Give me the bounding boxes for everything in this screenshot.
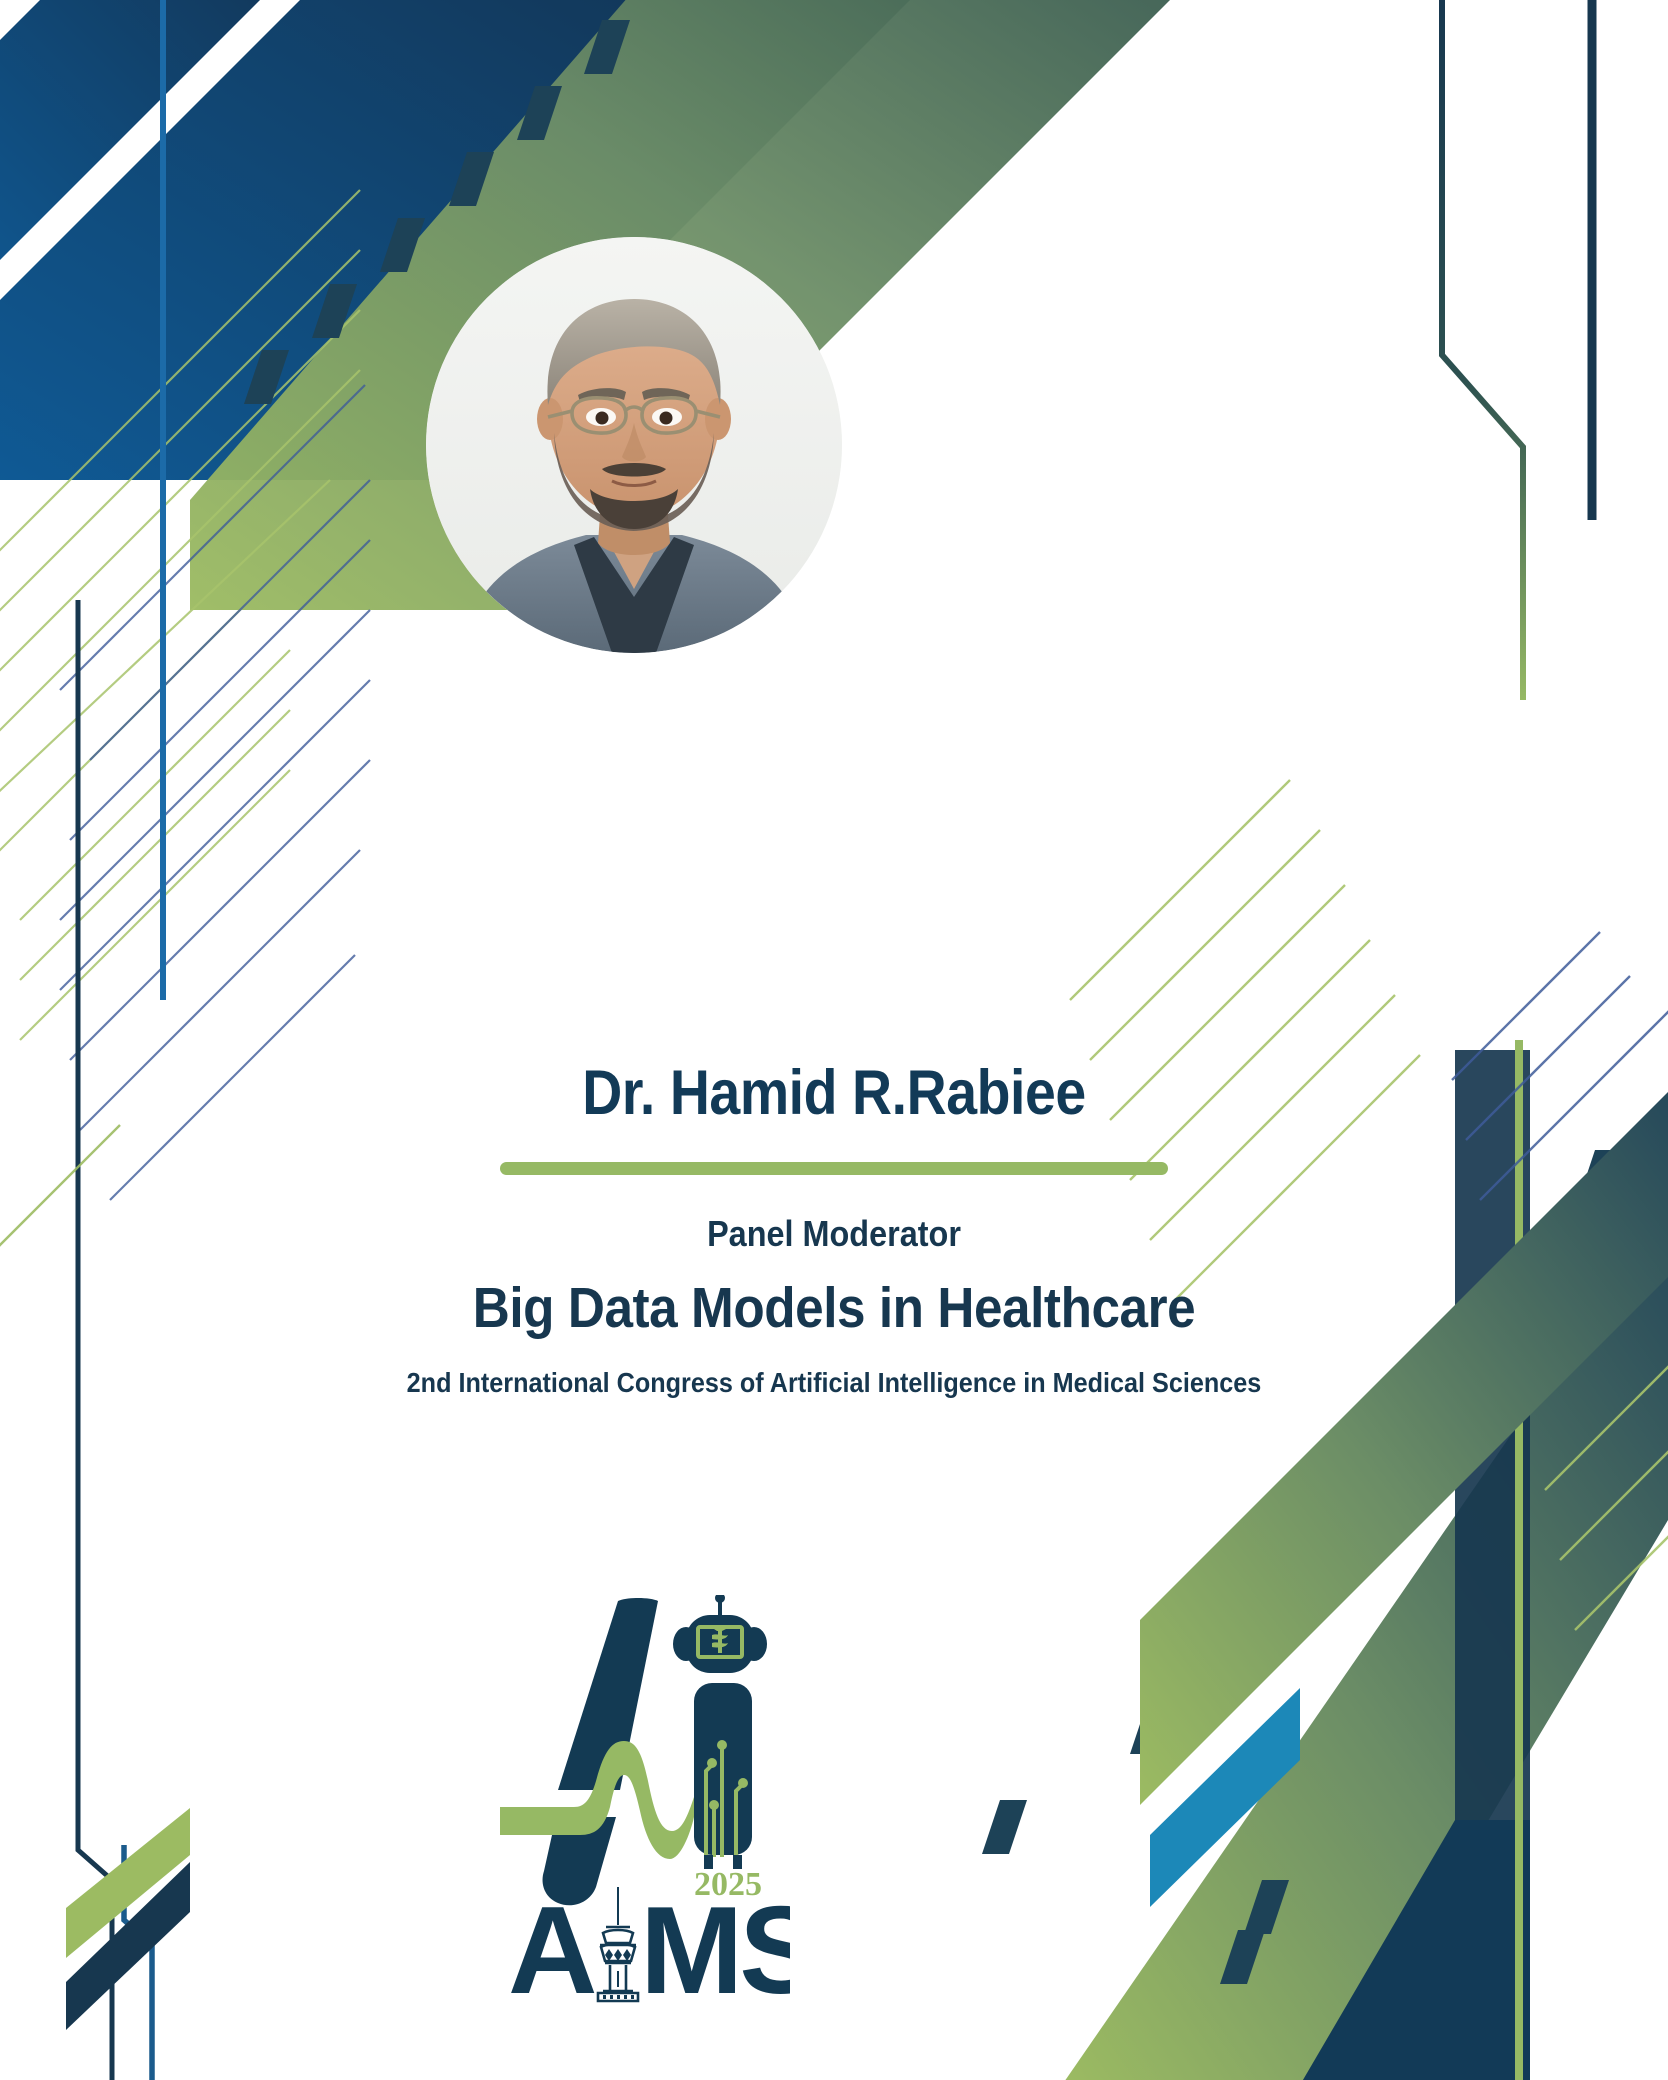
milad-tower-base-dots — [603, 1995, 634, 1999]
congress-name: 2nd International Congress of Artificial… — [83, 1367, 1584, 1399]
speaker-role: Panel Moderator — [83, 1213, 1584, 1255]
divider — [500, 1162, 1168, 1175]
aims-logo: .navy{fill:#133a53} .green{fill:#96b964} — [500, 1595, 790, 2015]
poster-text-block: Dr. Hamid R.Rabiee Panel Moderator Big D… — [0, 1060, 1668, 1399]
milad-tower-pod-dots — [605, 1949, 631, 1961]
svg-text:MS: MS — [640, 1882, 790, 2015]
speaker-portrait — [385, 196, 883, 694]
svg-text:A: A — [508, 1882, 595, 2015]
logo-wordmark: A MS — [508, 1882, 790, 2015]
portrait-ring — [385, 196, 883, 694]
milad-tower-icon — [598, 1887, 638, 2001]
speaker-name: Dr. Hamid R.Rabiee — [100, 1060, 1568, 1126]
aims-logo-graphic: .navy{fill:#133a53} .green{fill:#96b964} — [500, 1595, 790, 2015]
talk-title: Big Data Models in Healthcare — [83, 1275, 1584, 1341]
speaker-poster: Dr. Hamid R.Rabiee Panel Moderator Big D… — [0, 0, 1668, 2080]
mid-left-small-bars — [27, 520, 240, 575]
logo-letter-a — [543, 1598, 658, 1905]
bottom-left-bars — [66, 1808, 190, 2060]
